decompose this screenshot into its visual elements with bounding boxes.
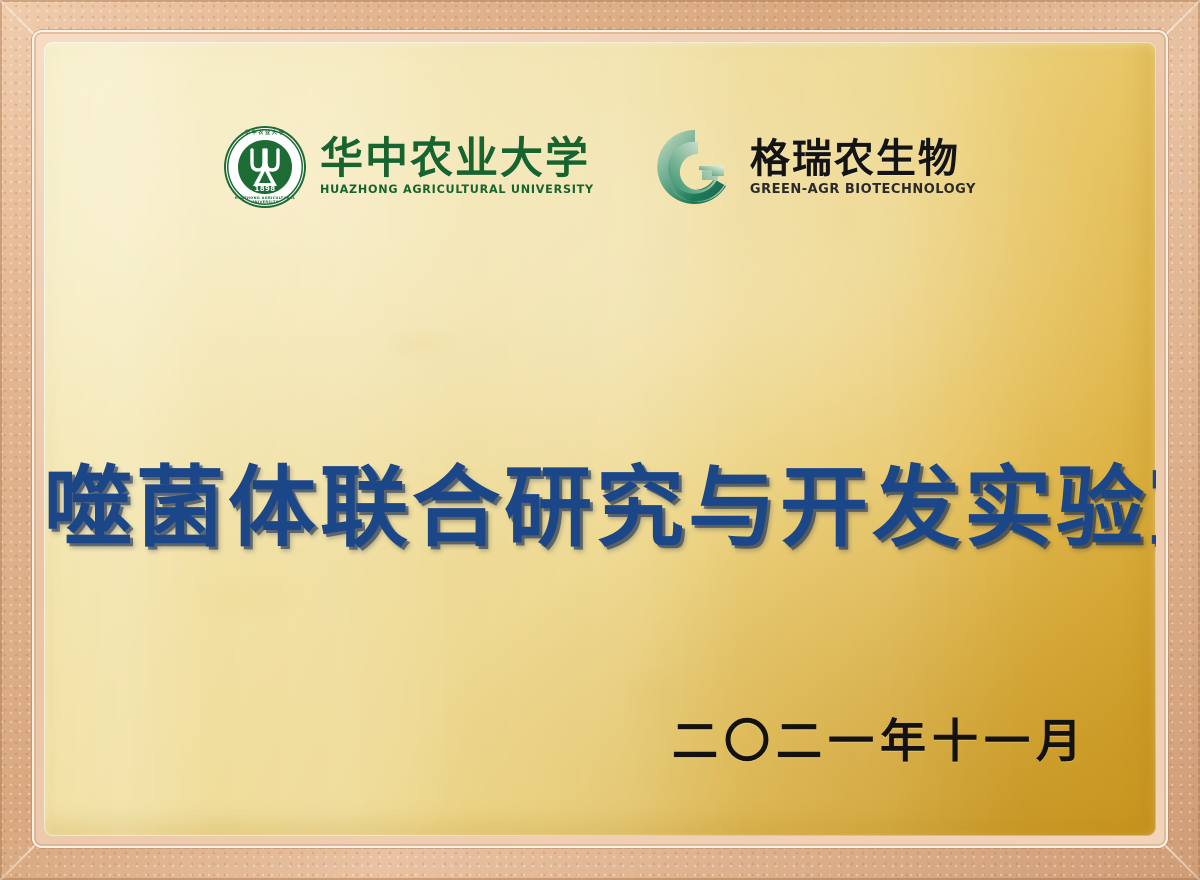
company-name-block: 格瑞农生物 GREEN-AGR BIOTECHNOLOGY xyxy=(750,139,976,196)
company-logo: 格瑞农生物 GREEN-AGR BIOTECHNOLOGY xyxy=(654,126,976,208)
seal-year: 1898 xyxy=(224,185,306,193)
hzau-seal-icon: 华中农业大学 1898 HUAZHONG AGRICULTURAL UNIVER… xyxy=(224,126,306,208)
logo-row: 华中农业大学 1898 HUAZHONG AGRICULTURAL UNIVER… xyxy=(44,126,1156,208)
plaque-face: 华中农业大学 1898 HUAZHONG AGRICULTURAL UNIVER… xyxy=(44,42,1156,836)
university-name-en: HUAZHONG AGRICULTURAL UNIVERSITY xyxy=(320,184,594,195)
company-name-cn: 格瑞农生物 xyxy=(750,139,976,179)
university-name-block: 华中农业大学 HUAZHONG AGRICULTURAL UNIVERSITY xyxy=(320,138,594,195)
green-agr-swirl-icon xyxy=(654,126,736,208)
plaque-screenshot: 华中农业大学 1898 HUAZHONG AGRICULTURAL UNIVER… xyxy=(0,0,1200,880)
plaque-date: 二〇二一年十一月 xyxy=(672,718,1088,764)
plaque-title: 噬菌体联合研究与开发实验室 xyxy=(44,464,1156,552)
university-logo: 华中农业大学 1898 HUAZHONG AGRICULTURAL UNIVER… xyxy=(224,126,594,208)
company-name-en: GREEN-AGR BIOTECHNOLOGY xyxy=(750,183,976,196)
university-name-cn: 华中农业大学 xyxy=(320,138,594,181)
plaque-content: 华中农业大学 1898 HUAZHONG AGRICULTURAL UNIVER… xyxy=(44,42,1156,836)
